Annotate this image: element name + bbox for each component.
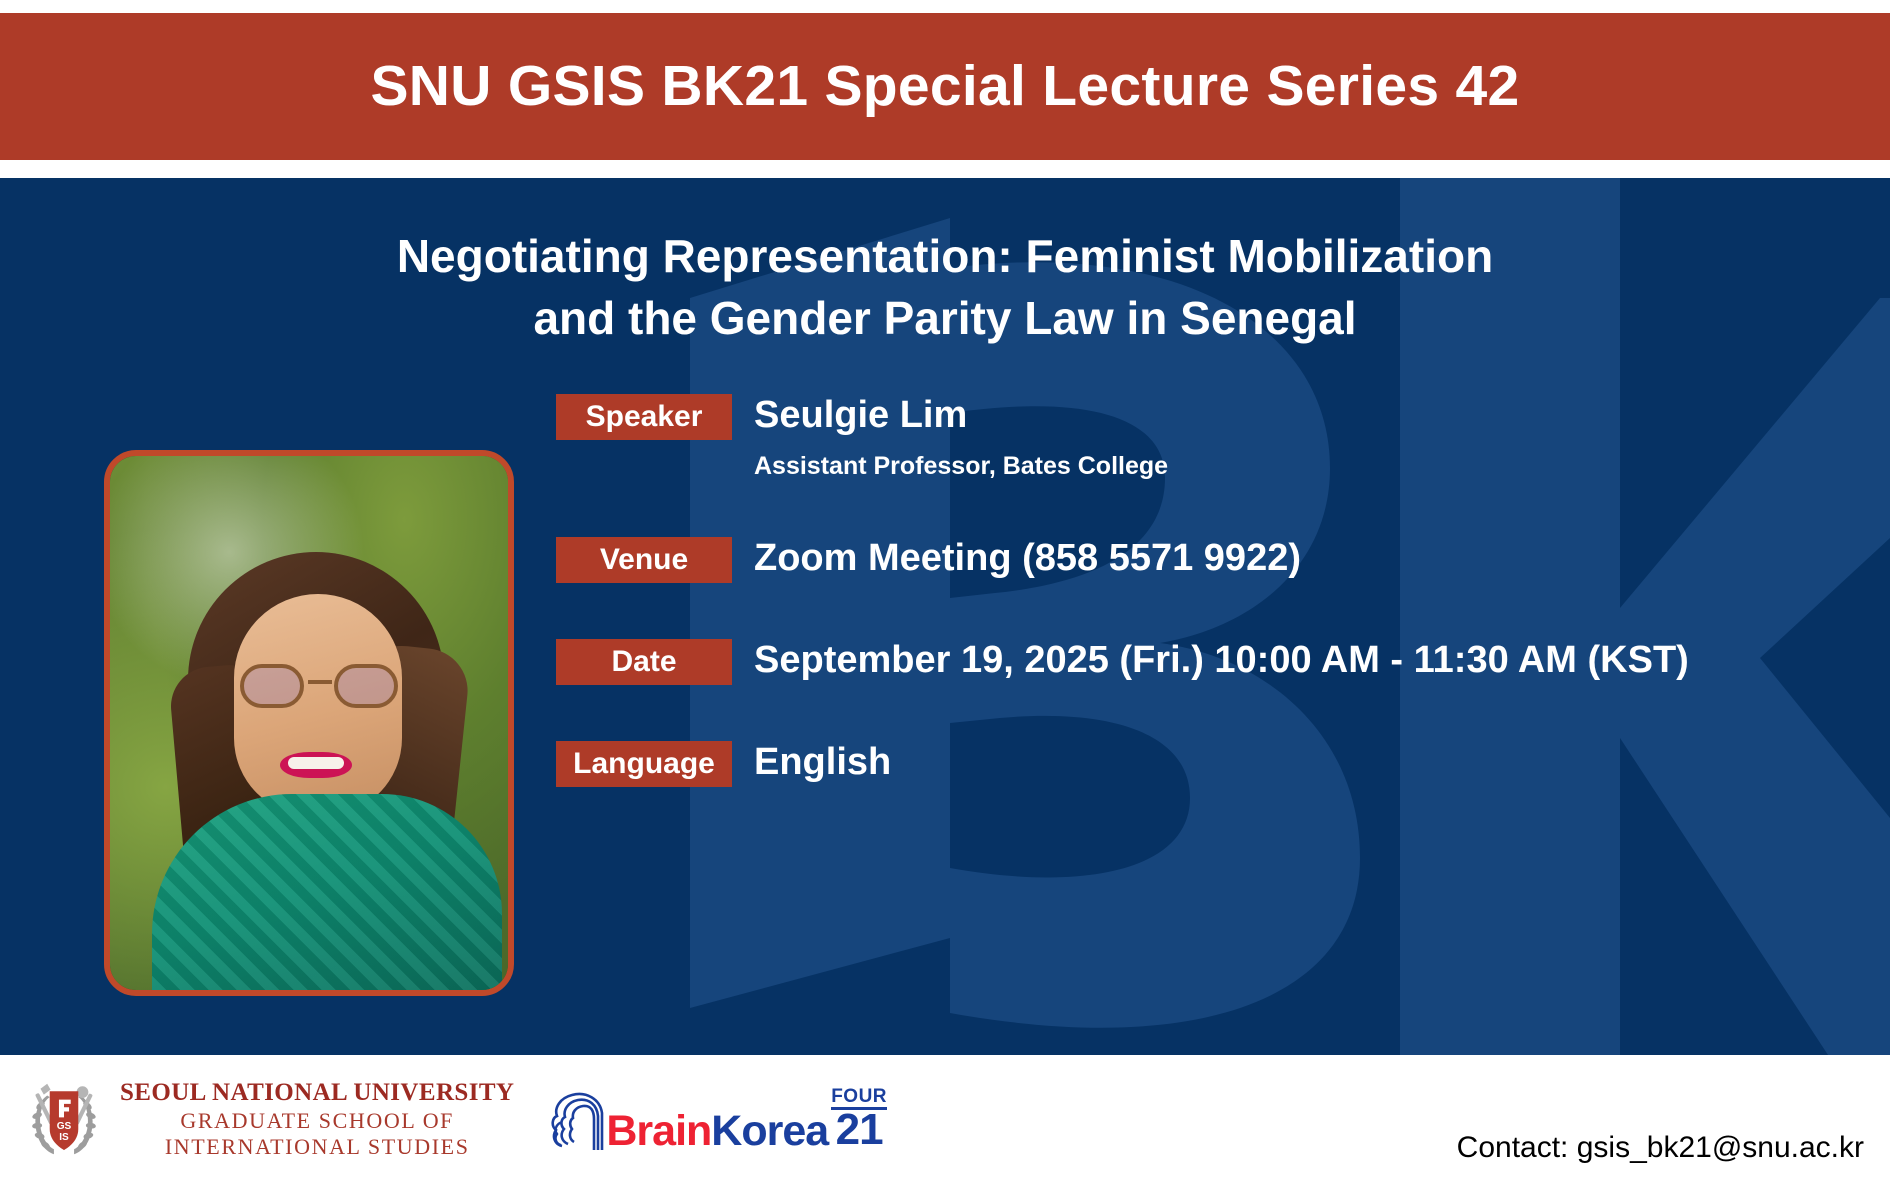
banner: SNU GSIS BK21 Special Lecture Series 42 (0, 13, 1890, 160)
portrait-teeth (288, 757, 344, 769)
brainkorea-wordmark: BrainKorea (606, 1111, 828, 1152)
lecture-title: Negotiating Representation: Feminist Mob… (0, 226, 1890, 349)
footer: GS IS SEOUL NATIONAL UNIVERSITY GRADUATE… (0, 1055, 1890, 1181)
brainkorea21-logo: BrainKorea FOUR 21 (548, 1086, 887, 1152)
info-row-venue: Venue Zoom Meeting (858 5571 9922) (556, 537, 1856, 583)
svg-text:GS: GS (57, 1121, 72, 1132)
language-values: English (754, 741, 891, 781)
snu-gsis-logo: GS IS SEOUL NATIONAL UNIVERSITY GRADUATE… (22, 1077, 514, 1161)
language-value: English (754, 743, 891, 781)
lecture-title-line-1: Negotiating Representation: Feminist Mob… (0, 226, 1890, 288)
portrait-glasses (236, 664, 402, 708)
label-language: Language (556, 741, 732, 787)
speaker-photo (104, 450, 514, 996)
date-values: September 19, 2025 (Fri.) 10:00 AM - 11:… (754, 639, 1689, 679)
glasses-lens-right (334, 664, 398, 708)
snu-wordmark: SEOUL NATIONAL UNIVERSITY GRADUATE SCHOO… (120, 1078, 514, 1159)
lecture-title-line-2: and the Gender Parity Law in Senegal (0, 288, 1890, 350)
brainkorea-brain-text: Brain (606, 1107, 711, 1155)
portrait-clothing (152, 794, 502, 996)
bk21-number-text: 21 (831, 1108, 887, 1152)
date-value: September 19, 2025 (Fri.) 10:00 AM - 11:… (754, 641, 1689, 679)
speaker-values: Seulgie Lim Assistant Professor, Bates C… (754, 394, 1168, 479)
brain-head-icon (548, 1086, 610, 1152)
info-row-speaker: Speaker Seulgie Lim Assistant Professor,… (556, 394, 1856, 479)
contact-email: Contact: gsis_bk21@snu.ac.kr (1457, 1131, 1864, 1165)
main-panel: Negotiating Representation: Feminist Mob… (0, 178, 1890, 1055)
glasses-bridge (308, 680, 332, 684)
snu-line-1: SEOUL NATIONAL UNIVERSITY (120, 1078, 514, 1108)
label-speaker: Speaker (556, 394, 732, 440)
svg-text:IS: IS (59, 1132, 69, 1143)
banner-title: SNU GSIS BK21 Special Lecture Series 42 (370, 58, 1519, 115)
venue-values: Zoom Meeting (858 5571 9922) (754, 537, 1301, 577)
info-row-date: Date September 19, 2025 (Fri.) 10:00 AM … (556, 639, 1856, 685)
info-list: Speaker Seulgie Lim Assistant Professor,… (556, 394, 1856, 787)
brainkorea-korea-text: Korea (711, 1107, 828, 1155)
snu-line-2: GRADUATE SCHOOL OF (120, 1108, 514, 1134)
snu-line-3: INTERNATIONAL STUDIES (120, 1134, 514, 1160)
footer-logos: GS IS SEOUL NATIONAL UNIVERSITY GRADUATE… (22, 1077, 887, 1161)
bk21-number-block: FOUR 21 (831, 1087, 887, 1152)
glasses-lens-left (240, 664, 304, 708)
info-row-language: Language English (556, 741, 1856, 787)
speaker-name: Seulgie Lim (754, 396, 1168, 434)
lecture-poster: SNU GSIS BK21 Special Lecture Series 42 … (0, 0, 1890, 1181)
speaker-affiliation: Assistant Professor, Bates College (754, 454, 1168, 479)
snu-crest-icon: GS IS (22, 1077, 106, 1161)
label-date: Date (556, 639, 732, 685)
venue-value: Zoom Meeting (858 5571 9922) (754, 539, 1301, 577)
speaker-photo-image (110, 456, 508, 990)
label-venue: Venue (556, 537, 732, 583)
